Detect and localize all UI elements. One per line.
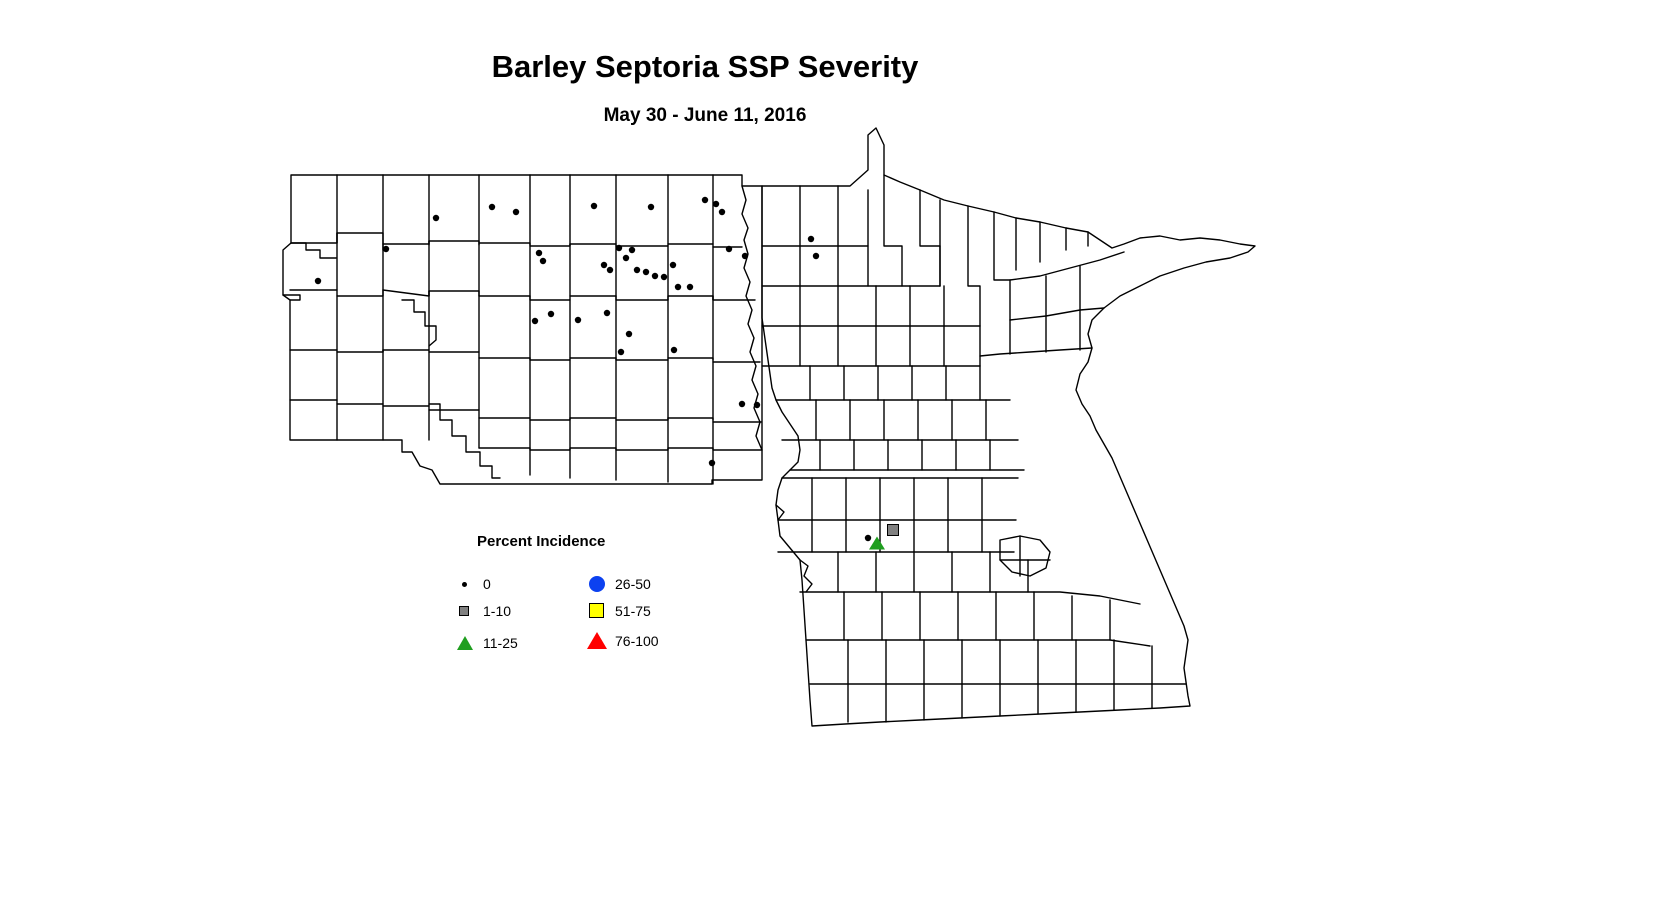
data-point-0 (634, 267, 640, 273)
data-point-0 (433, 215, 439, 221)
map-page: Barley Septoria SSP Severity May 30 - Ju… (0, 0, 1673, 900)
legend: Percent Incidence 0 1-10 11-25 26-50 51-… (455, 533, 695, 663)
legend-label-76-100: 76-100 (615, 633, 659, 649)
data-point-0 (726, 246, 732, 252)
data-point-0 (702, 197, 708, 203)
data-point-0 (661, 274, 667, 280)
data-point-0 (623, 255, 629, 261)
data-point-0 (591, 203, 597, 209)
data-point-0 (675, 284, 681, 290)
data-point-11-25 (869, 537, 885, 550)
data-point-0 (626, 331, 632, 337)
data-point-0 (607, 267, 613, 273)
data-point-0 (489, 204, 495, 210)
county-map (0, 0, 1673, 900)
data-point-0 (643, 269, 649, 275)
legend-dot-icon (455, 574, 477, 594)
data-point-0 (536, 250, 542, 256)
data-point-0 (532, 318, 538, 324)
data-point-0 (713, 201, 719, 207)
data-point-0 (865, 535, 871, 541)
data-point-0 (618, 349, 624, 355)
legend-label-0: 0 (483, 576, 491, 592)
data-point-0 (648, 204, 654, 210)
data-point-0 (739, 401, 745, 407)
data-point-0 (742, 253, 748, 259)
legend-label-51-75: 51-75 (615, 603, 651, 619)
legend-title: Percent Incidence (477, 533, 605, 550)
legend-green-triangle-icon (455, 633, 477, 653)
data-point-0 (813, 253, 819, 259)
legend-label-26-50: 26-50 (615, 576, 651, 592)
legend-red-triangle-icon (587, 631, 609, 651)
data-point-0 (616, 245, 622, 251)
data-point-0 (604, 310, 610, 316)
data-point-0 (652, 273, 658, 279)
data-point-0 (671, 347, 677, 353)
data-point-1-10 (888, 525, 899, 536)
data-point-0 (719, 209, 725, 215)
data-point-layer (315, 197, 899, 550)
data-point-0 (315, 278, 321, 284)
data-point-0 (383, 246, 389, 252)
data-point-0 (709, 460, 715, 466)
legend-blue-circle-icon (587, 574, 609, 594)
data-point-0 (575, 317, 581, 323)
legend-gray-square-icon (455, 601, 477, 621)
legend-label-11-25: 11-25 (483, 635, 518, 651)
data-point-0 (629, 247, 635, 253)
data-point-0 (540, 258, 546, 264)
data-point-0 (808, 236, 814, 242)
data-point-0 (548, 311, 554, 317)
legend-yellow-square-icon (587, 601, 609, 621)
data-point-0 (754, 402, 760, 408)
data-point-0 (601, 262, 607, 268)
data-point-0 (687, 284, 693, 290)
legend-label-1-10: 1-10 (483, 603, 511, 619)
data-point-0 (513, 209, 519, 215)
data-point-0 (670, 262, 676, 268)
